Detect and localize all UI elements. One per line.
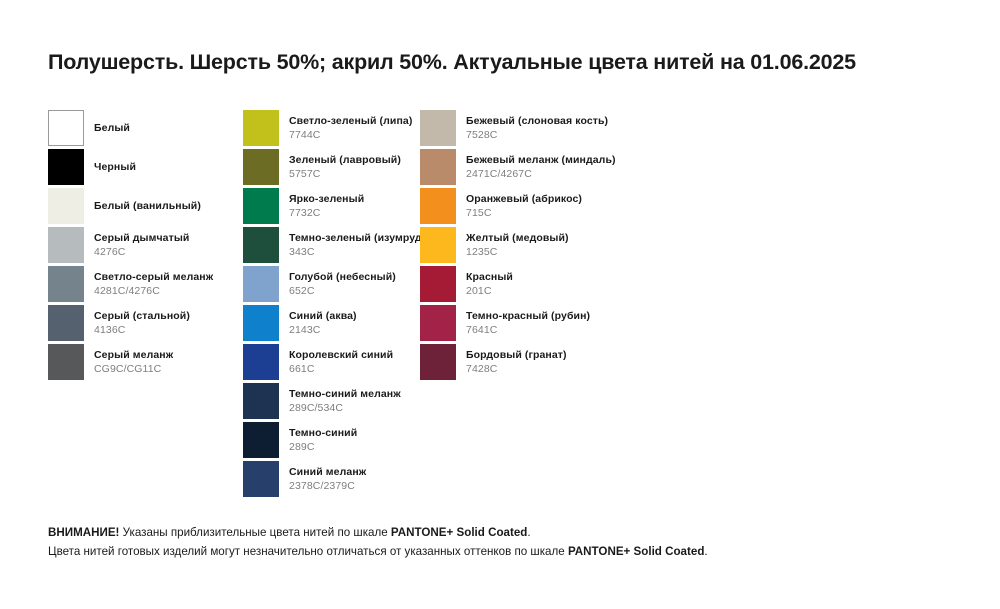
swatch-label-block: Бордовый (гранат)7428C bbox=[466, 344, 567, 380]
pantone-code: 715C bbox=[466, 207, 582, 219]
pantone-code: 289C bbox=[289, 441, 357, 453]
swatch-row: Темно-красный (рубин)7641C bbox=[420, 305, 660, 344]
swatch-row: Оранжевый (абрикос)715C bbox=[420, 188, 660, 227]
footer-note: ВНИМАНИЕ! Указаны приблизительные цвета … bbox=[48, 524, 968, 562]
color-name: Темно-зеленый (изумруд) bbox=[289, 232, 425, 244]
swatch-row: Светло-зеленый (липа)7744C bbox=[243, 110, 423, 149]
color-swatch bbox=[420, 227, 456, 263]
swatch-label-block: Ярко-зеленый7732C bbox=[289, 188, 364, 224]
color-name: Синий (аква) bbox=[289, 310, 357, 322]
color-name: Темно-синий меланж bbox=[289, 388, 401, 400]
color-name: Красный bbox=[466, 271, 513, 283]
swatch-row: Голубой (небесный)652C bbox=[243, 266, 423, 305]
color-swatch bbox=[48, 110, 84, 146]
color-swatch bbox=[420, 266, 456, 302]
color-swatch bbox=[420, 188, 456, 224]
pantone-code: 7744C bbox=[289, 129, 412, 141]
color-swatch bbox=[48, 149, 84, 185]
swatch-label-block: Синий (аква)2143C bbox=[289, 305, 357, 341]
color-swatch bbox=[420, 110, 456, 146]
color-name: Темно-красный (рубин) bbox=[466, 310, 590, 322]
color-name: Серый меланж bbox=[94, 349, 173, 361]
color-name: Королевский синий bbox=[289, 349, 393, 361]
footer-line-1-period: . bbox=[527, 526, 530, 539]
swatch-row: Ярко-зеленый7732C bbox=[243, 188, 423, 227]
color-swatch bbox=[243, 344, 279, 380]
swatch-label-block: Серый (стальной)4136C bbox=[94, 305, 190, 341]
color-name: Бежевый меланж (миндаль) bbox=[466, 154, 616, 166]
swatch-row: Бордовый (гранат)7428C bbox=[420, 344, 660, 383]
page-title: Полушерсть. Шерсть 50%; акрил 50%. Актуа… bbox=[48, 50, 968, 75]
pantone-code: CG9C/CG11C bbox=[94, 363, 173, 375]
swatch-label-block: Белый (ванильный) bbox=[94, 188, 201, 224]
color-name: Черный bbox=[94, 161, 136, 173]
pantone-code: 661C bbox=[289, 363, 393, 375]
color-swatch bbox=[243, 461, 279, 497]
color-swatch bbox=[420, 344, 456, 380]
swatch-row: Бежевый (слоновая кость)7528C bbox=[420, 110, 660, 149]
swatch-label-block: Оранжевый (абрикос)715C bbox=[466, 188, 582, 224]
swatch-label-block: Темно-красный (рубин)7641C bbox=[466, 305, 590, 341]
color-swatch bbox=[420, 305, 456, 341]
color-swatch bbox=[243, 227, 279, 263]
color-name: Белый bbox=[94, 122, 130, 134]
pantone-code: 1235C bbox=[466, 246, 569, 258]
swatch-row: Светло-серый меланж4281C/4276C bbox=[48, 266, 248, 305]
swatch-row: Красный201C bbox=[420, 266, 660, 305]
color-swatch bbox=[243, 383, 279, 419]
swatch-row: Королевский синий661C bbox=[243, 344, 423, 383]
color-name: Светло-серый меланж bbox=[94, 271, 213, 283]
swatch-row: Белый bbox=[48, 110, 248, 149]
pantone-code: 4281C/4276C bbox=[94, 285, 213, 297]
swatch-label-block: Королевский синий661C bbox=[289, 344, 393, 380]
swatch-label-block: Зеленый (лавровый)5757C bbox=[289, 149, 401, 185]
pantone-code: 2378C/2379C bbox=[289, 480, 366, 492]
swatch-row: Белый (ванильный) bbox=[48, 188, 248, 227]
pantone-code: 7528C bbox=[466, 129, 608, 141]
color-name: Бордовый (гранат) bbox=[466, 349, 567, 361]
pantone-code: 201C bbox=[466, 285, 513, 297]
color-chart-page: Полушерсть. Шерсть 50%; акрил 50%. Актуа… bbox=[0, 0, 1000, 609]
pantone-code: 5757C bbox=[289, 168, 401, 180]
swatch-row: Зеленый (лавровый)5757C bbox=[243, 149, 423, 188]
pantone-code: 289C/534C bbox=[289, 402, 401, 414]
pantone-code: 7428C bbox=[466, 363, 567, 375]
color-swatch bbox=[48, 188, 84, 224]
color-name: Серый дымчатый bbox=[94, 232, 189, 244]
color-swatch bbox=[420, 149, 456, 185]
color-swatch bbox=[48, 344, 84, 380]
footer-line-2-period: . bbox=[704, 545, 707, 558]
color-swatch bbox=[243, 110, 279, 146]
swatch-label-block: Темно-зеленый (изумруд)343C bbox=[289, 227, 425, 263]
footer-line-2-text: Цвета нитей готовых изделий могут незнач… bbox=[48, 545, 568, 558]
swatch-row: Желтый (медовый)1235C bbox=[420, 227, 660, 266]
color-name: Белый (ванильный) bbox=[94, 200, 201, 212]
swatch-label-block: Серый меланжCG9C/CG11C bbox=[94, 344, 173, 380]
swatch-label-block: Синий меланж2378C/2379C bbox=[289, 461, 366, 497]
swatch-row: Темно-синий289C bbox=[243, 422, 423, 461]
footer-line-1-text: Указаны приблизительные цвета нитей по ш… bbox=[119, 526, 390, 539]
swatch-label-block: Бежевый меланж (миндаль)2471C/4267C bbox=[466, 149, 616, 185]
footer-attention-label: ВНИМАНИЕ! bbox=[48, 526, 119, 539]
pantone-code: 4136C bbox=[94, 324, 190, 336]
footer-line-1-brand: PANTONE+ Solid Coated bbox=[391, 526, 527, 539]
color-swatch bbox=[243, 188, 279, 224]
swatch-row: Черный bbox=[48, 149, 248, 188]
pantone-code: 4276C bbox=[94, 246, 189, 258]
swatch-row: Темно-синий меланж289C/534C bbox=[243, 383, 423, 422]
color-swatch bbox=[243, 305, 279, 341]
swatch-row: Серый меланжCG9C/CG11C bbox=[48, 344, 248, 383]
color-name: Темно-синий bbox=[289, 427, 357, 439]
pantone-code: 7641C bbox=[466, 324, 590, 336]
color-name: Голубой (небесный) bbox=[289, 271, 396, 283]
swatch-column-3: Бежевый (слоновая кость)7528CБежевый мел… bbox=[420, 110, 660, 383]
footer-line-2: Цвета нитей готовых изделий могут незнач… bbox=[48, 543, 968, 562]
swatch-column-2: Светло-зеленый (липа)7744CЗеленый (лавро… bbox=[243, 110, 423, 500]
swatch-label-block: Голубой (небесный)652C bbox=[289, 266, 396, 302]
pantone-code: 652C bbox=[289, 285, 396, 297]
swatch-row: Серый (стальной)4136C bbox=[48, 305, 248, 344]
swatch-row: Бежевый меланж (миндаль)2471C/4267C bbox=[420, 149, 660, 188]
color-swatch bbox=[48, 227, 84, 263]
footer-line-1: ВНИМАНИЕ! Указаны приблизительные цвета … bbox=[48, 524, 968, 543]
swatch-row: Синий (аква)2143C bbox=[243, 305, 423, 344]
swatch-label-block: Темно-синий меланж289C/534C bbox=[289, 383, 401, 419]
color-name: Оранжевый (абрикос) bbox=[466, 193, 582, 205]
color-name: Ярко-зеленый bbox=[289, 193, 364, 205]
swatch-label-block: Красный201C bbox=[466, 266, 513, 302]
swatch-label-block: Серый дымчатый4276C bbox=[94, 227, 189, 263]
color-swatch bbox=[48, 266, 84, 302]
color-swatch bbox=[48, 305, 84, 341]
color-name: Синий меланж bbox=[289, 466, 366, 478]
swatch-label-block: Светло-серый меланж4281C/4276C bbox=[94, 266, 213, 302]
color-name: Бежевый (слоновая кость) bbox=[466, 115, 608, 127]
swatch-label-block: Белый bbox=[94, 110, 130, 146]
swatch-row: Серый дымчатый4276C bbox=[48, 227, 248, 266]
color-swatch bbox=[243, 422, 279, 458]
swatch-row: Синий меланж2378C/2379C bbox=[243, 461, 423, 500]
swatch-label-block: Светло-зеленый (липа)7744C bbox=[289, 110, 412, 146]
swatch-label-block: Бежевый (слоновая кость)7528C bbox=[466, 110, 608, 146]
color-name: Зеленый (лавровый) bbox=[289, 154, 401, 166]
swatch-label-block: Темно-синий289C bbox=[289, 422, 357, 458]
pantone-code: 343C bbox=[289, 246, 425, 258]
pantone-code: 2471C/4267C bbox=[466, 168, 616, 180]
color-name: Светло-зеленый (липа) bbox=[289, 115, 412, 127]
pantone-code: 7732C bbox=[289, 207, 364, 219]
color-name: Желтый (медовый) bbox=[466, 232, 569, 244]
color-name: Серый (стальной) bbox=[94, 310, 190, 322]
swatch-label-block: Желтый (медовый)1235C bbox=[466, 227, 569, 263]
color-swatch bbox=[243, 149, 279, 185]
pantone-code: 2143C bbox=[289, 324, 357, 336]
color-swatch bbox=[243, 266, 279, 302]
swatch-row: Темно-зеленый (изумруд)343C bbox=[243, 227, 423, 266]
swatch-label-block: Черный bbox=[94, 149, 136, 185]
swatch-column-1: БелыйЧерныйБелый (ванильный)Серый дымчат… bbox=[48, 110, 248, 383]
footer-line-2-brand: PANTONE+ Solid Coated bbox=[568, 545, 704, 558]
